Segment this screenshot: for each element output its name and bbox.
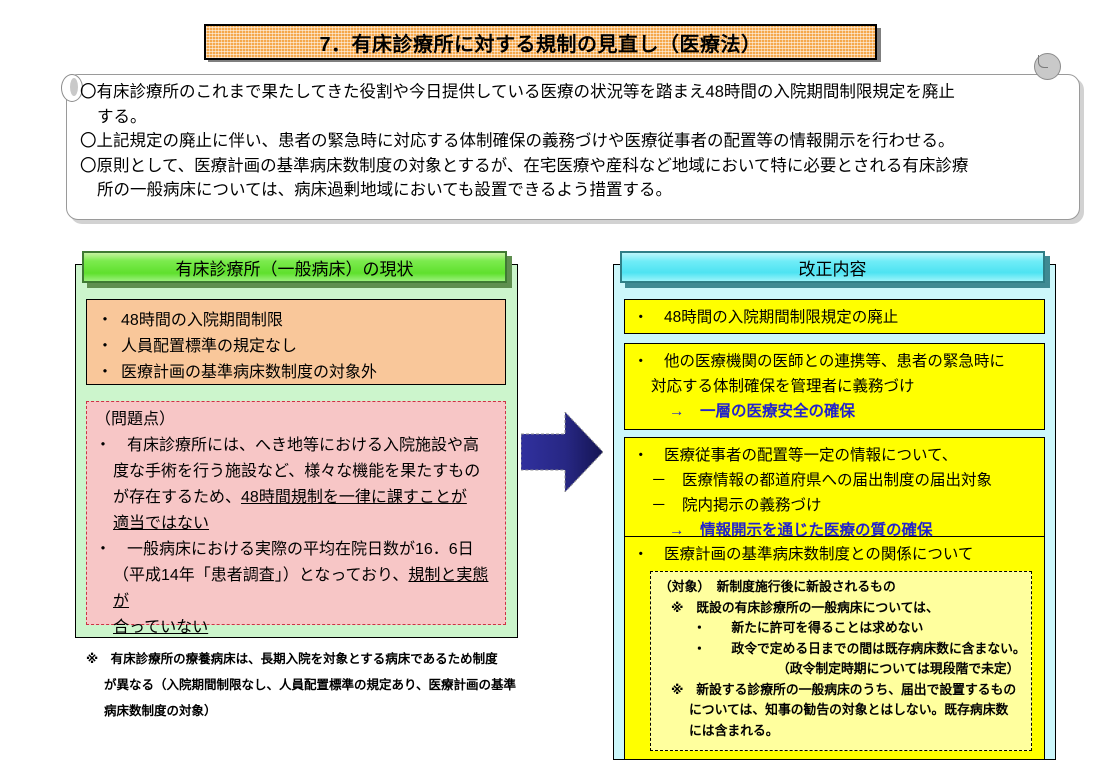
callout-corner-circle-icon [1034,53,1061,80]
lead-line-3: 〇上記規定の廃止に伴い、患者の緊急時に対応する体制確保の義務づけや医療従事者の配… [80,129,1072,154]
problems-line-plain: が存在するため、 [113,489,241,506]
amendment-item-box: ・ 医療従事者の配置等一定の情報について、 － 医療情報の都道府県への届出制度の… [624,437,1045,547]
facts-row: ・人員配置標準の規定なし [97,334,499,360]
lead-line-2: する。 [80,105,1072,130]
problems-line: ・ 有床診療所には、へき地等における入院施設や高 [95,433,497,459]
amendment-line: － 院内掲示の義務づけ [633,493,1038,518]
current-status-header-label: 有床診療所（一般病床）の現状 [176,255,414,280]
facts-row-label: 48時間の入院期間制限 [121,312,283,329]
amendment-line: ・ 他の医療機関の医師との連携等、患者の緊急時に [633,349,1038,374]
problems-underline: 合っていない [113,619,208,636]
page-title: 7．有床診療所に対する規制の見直し（医療法） [319,28,761,57]
detail-line: （対象） 新制度施行後に新設されるもの [659,577,1027,598]
facts-row-label: 人員配置標準の規定なし [121,338,297,355]
amendment-header: 改正内容 [620,251,1045,283]
amendment-header-label: 改正内容 [799,255,867,280]
problems-underline: 適当ではない [113,515,209,532]
amendment-item-box: ・ 48時間の入院期間制限規定の廃止 [624,299,1045,334]
lead-line-1: 〇有床診療所のこれまで果たしてきた役割や今日提供している医療の状況等を踏まえ48… [80,80,1072,105]
problems-line: が存在するため、48時間規制を一律に課すことが [95,485,497,511]
amendment-line: ・ 医療計画の基準病床数制度との関係について [633,542,1038,567]
amendment-line: 対応する体制確保を管理者に義務づけ [633,374,1038,399]
current-status-header: 有床診療所（一般病床）の現状 [82,251,507,283]
bullet-icon: ・ [97,364,121,381]
problems-heading: （問題点） [95,407,497,433]
detail-line: ・ 新たに許可を得ることは求めない [659,618,1027,639]
detail-line: （政令制定時期については現段階で未定） [659,659,1027,680]
problems-line: （平成14年「患者調査」）となっており、規制と実態が [95,563,497,615]
amendment-item-box: ・ 他の医療機関の医師との連携等、患者の緊急時に 対応する体制確保を管理者に義務… [624,343,1045,430]
footnote-line: 病床数制度の対象） [86,698,536,724]
detail-line: ・ 政令で定める日までの間は既存病床数に含まない。 [659,639,1027,660]
problems-line: 適当ではない [95,511,497,537]
lead-line-4: 〇原則として、医療計画の基準病床数制度の対象とするが、在宅医療や産科など地域にお… [80,154,1072,179]
amendment-line: ・ 医療従事者の配置等一定の情報について、 [633,443,1038,468]
slide-title-bar: 7．有床診療所に対する規制の見直し（医療法） [204,24,877,60]
detail-line: ※ 新設する診療所の一般病床のうち、届出で設置するもの [659,680,1027,701]
lead-line-5: 所の一般病床については、病床過剰地域においても設置できるよう措置する。 [80,178,1072,203]
facts-row: ・医療計画の基準病床数制度の対象外 [97,360,499,386]
facts-row: ・48時間の入院期間制限 [97,308,499,334]
current-status-facts-box: ・48時間の入院期間制限 ・人員配置標準の規定なし ・医療計画の基準病床数制度の… [86,299,506,385]
facts-row-label: 医療計画の基準病床数制度の対象外 [121,364,377,381]
lead-paragraph-group: 〇有床診療所のこれまで果たしてきた役割や今日提供している医療の状況等を踏まえ48… [80,80,1072,203]
problems-line-plain: （平成14年「患者調査」）となっており、 [113,567,408,584]
problems-box: （問題点） ・ 有床診療所には、へき地等における入院施設や高 度な手術を行う施設… [86,401,506,625]
problems-underline: 48時間規制を一律に課すことが [241,489,467,506]
problems-line: 度な手術を行う施設など、様々な機能を果たすもの [95,459,497,485]
bullet-icon: ・ [97,312,121,329]
amendment-highlight-line: → 一層の医療安全の確保 [633,399,1038,424]
detail-line: については、知事の勧告の対象とはしない。既存病床数 [659,700,1027,721]
left-panel-footnote: ※ 有床診療所の療養病床は、長期入院を対象とする病床であるため制度 が異なる（入… [86,646,536,724]
detail-line: ※ 既設の有床診療所の一般病床については、 [659,598,1027,619]
detail-line: には含まれる。 [659,721,1027,742]
problems-line: 合っていない [95,615,497,641]
footnote-line: が異なる（入院期間制限なし、人員配置標準の規定あり、医療計画の基準 [86,672,536,698]
amendment-detail-box: （対象） 新制度施行後に新設されるもの ※ 既設の有床診療所の一般病床については… [650,571,1032,751]
bullet-icon: ・ [97,338,121,355]
amendment-line: － 医療情報の都道府県への届出制度の届出対象 [633,468,1038,493]
footnote-line: ※ 有床診療所の療養病床は、長期入院を対象とする病床であるため制度 [86,646,536,672]
amendment-line: ・ 48時間の入院期間制限規定の廃止 [633,305,1038,330]
problems-line: ・ 一般病床における実際の平均在院日数が16．6日 [95,537,497,563]
flow-arrow-icon [521,412,603,492]
